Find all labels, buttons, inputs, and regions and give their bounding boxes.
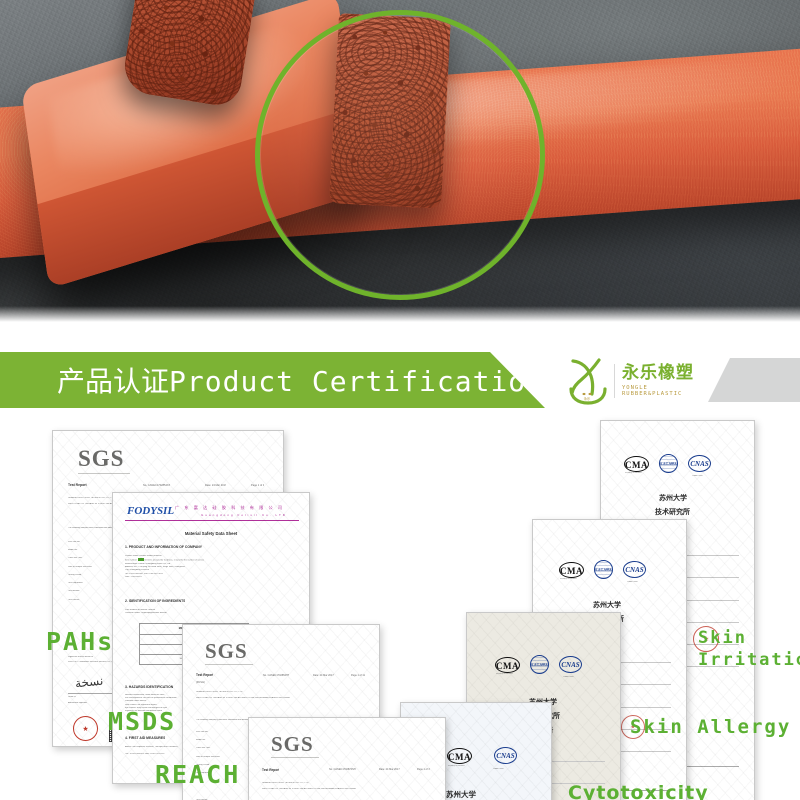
- skin-irritation-line-1: Skin: [698, 628, 800, 648]
- magnifier-inner-shade: [260, 15, 540, 295]
- msds-section-4: 4. FIRST AID MEASURES: [125, 736, 165, 741]
- logo-name-en: YONGLE RUBBER&PLASTIC: [622, 385, 708, 397]
- category-label-skin-allergy: Skin Allergy: [630, 716, 791, 738]
- fodysil-logo: FODYSIL: [127, 505, 174, 517]
- lab-title-university: 苏州大学: [659, 493, 687, 503]
- magnifier-circle-icon: [255, 10, 545, 300]
- product-certification-page: 产品认证Product Certification 永乐 永乐橡塑 YONGLE…: [0, 0, 800, 800]
- section-header-banner: 产品认证Product Certification: [0, 352, 545, 408]
- cnas-logo-icon: CNAS: [559, 656, 582, 673]
- cnas-cert-number: CNAS L2894: [627, 581, 638, 584]
- doc-page: Page 1 of 11: [351, 674, 365, 678]
- sgs-logo: SGS: [271, 732, 314, 757]
- cnas-cert-number: CNAS L2894: [563, 676, 574, 679]
- cma-cert-number: 证书编号:201905005: [625, 472, 642, 475]
- logo-name-cn: 永乐橡塑: [622, 365, 708, 383]
- doc-title: Test Report: [68, 483, 87, 488]
- cma-logo-icon: CMA: [495, 657, 520, 673]
- lab-title-university: 苏州大学: [593, 600, 621, 610]
- cma-logo-icon: CMA: [559, 562, 584, 578]
- cma-cert-number: 证书编号:201905005: [496, 673, 513, 676]
- msds-title: Material Safety Data Sheet: [113, 531, 309, 538]
- certificate-collage: CMA ILAC-MRA CNAS 证书编号:201905005 CNAS L2…: [0, 412, 800, 800]
- porous-sample-left: [121, 0, 258, 108]
- product-photo: [0, 0, 800, 322]
- ilac-mra-logo-icon: ILAC-MRA: [594, 560, 613, 579]
- category-label-msds: MSDS: [108, 707, 176, 736]
- msds-section-3: 3. HAZARDS IDENTIFICATION: [125, 685, 173, 690]
- logo-text-block: 永乐橡塑 YONGLE RUBBER&PLASTIC: [619, 365, 708, 397]
- pore-structure-texture: [121, 0, 258, 108]
- page-title-en: Product Certification: [169, 365, 544, 398]
- doc-title: Test Report: [196, 673, 213, 678]
- cnas-logo-icon: CNAS: [623, 561, 646, 578]
- lab-title-institute: 技术研究所: [655, 507, 690, 517]
- doc-date: Date: 24 Mar 2017: [313, 674, 334, 678]
- sgs-logo: SGS: [205, 639, 248, 664]
- msds-company-en: Guangdong Folisil Co.,LTD: [201, 513, 287, 517]
- page-title-cn: 产品认证: [57, 365, 169, 398]
- lab-title-university: 苏州大学: [446, 789, 476, 800]
- skin-irritation-line-2: Irritation: [698, 650, 800, 670]
- msds-section-1: 1. PRODUCT AND INFORMATION OF COMPANY: [125, 545, 202, 550]
- brand-logo: 永乐 永乐橡塑 YONGLE RUBBER&PLASTIC: [566, 354, 708, 408]
- ilac-mra-logo-icon: ILAC-MRA: [530, 655, 549, 674]
- category-label-pahs: PAHs: [46, 627, 114, 656]
- msds-company-cn: 广 东 富 达 硅 胶 科 技 有 限 公 司: [175, 505, 284, 511]
- cnas-cert-number: CNAS L2894: [692, 475, 703, 478]
- svg-text:永乐: 永乐: [584, 396, 591, 401]
- logo-divider: [614, 364, 615, 398]
- doc-subtitle: (RVHL): [196, 680, 205, 684]
- cma-logo-icon: CMA: [624, 456, 649, 472]
- cnas-cert-number: CNAS L2894: [493, 768, 504, 771]
- category-label-reach: REACH: [155, 760, 240, 789]
- certificate-sgs-3[interactable]: SGS Test Report No. CANEC1702874NH Date:…: [248, 717, 446, 800]
- sgs-logo: SGS: [78, 446, 124, 472]
- cnas-logo-icon: CNAS: [494, 747, 517, 764]
- doc-page: Page 1 of 3: [251, 484, 264, 488]
- msds-section-2: 2. IDENTIFICATION OF INGREDIENTS: [125, 599, 185, 604]
- category-label-skin-irritation: Skin Irritation: [698, 628, 800, 670]
- doc-ref: No. CANEC1702854XX: [143, 484, 170, 488]
- cma-cert-number: 证书编号:201905005: [448, 765, 465, 768]
- doc-signed-label: Signed for and on behalf of: [68, 656, 93, 659]
- doc-date: Date: 24 Mar 2017: [379, 768, 400, 772]
- page-title: 产品认证Product Certification: [0, 360, 544, 400]
- cma-cert-number: 证书编号:201905005: [560, 578, 577, 581]
- official-red-stamp: ★: [73, 716, 98, 741]
- cnas-logo-icon: CNAS: [688, 455, 711, 472]
- signature: نسخة: [74, 674, 104, 692]
- grey-accent-tab: [708, 358, 800, 402]
- doc-ref: No. CANEC1702874NH: [329, 768, 356, 772]
- cma-logo-icon: CMA: [447, 748, 472, 764]
- doc-ref: No. CANEC1702854HT: [263, 674, 289, 678]
- doc-signed-org: SGS-CSTC Standards Technical Services Co…: [68, 661, 115, 664]
- doc-page: Page 1 of 3: [417, 768, 430, 772]
- doc-date: Date: 24 Mar 2017: [205, 484, 226, 488]
- yongle-leaf-logo-icon: 永乐: [566, 355, 610, 407]
- ilac-mra-logo-icon: ILAC-MRA: [659, 454, 678, 473]
- doc-title: Test Report: [262, 768, 279, 773]
- photo-bottom-fade: [0, 306, 800, 322]
- doc-signer-role: Authorized Signature: [68, 702, 87, 705]
- category-label-cytotoxicity: Cytotoxicity: [568, 782, 709, 800]
